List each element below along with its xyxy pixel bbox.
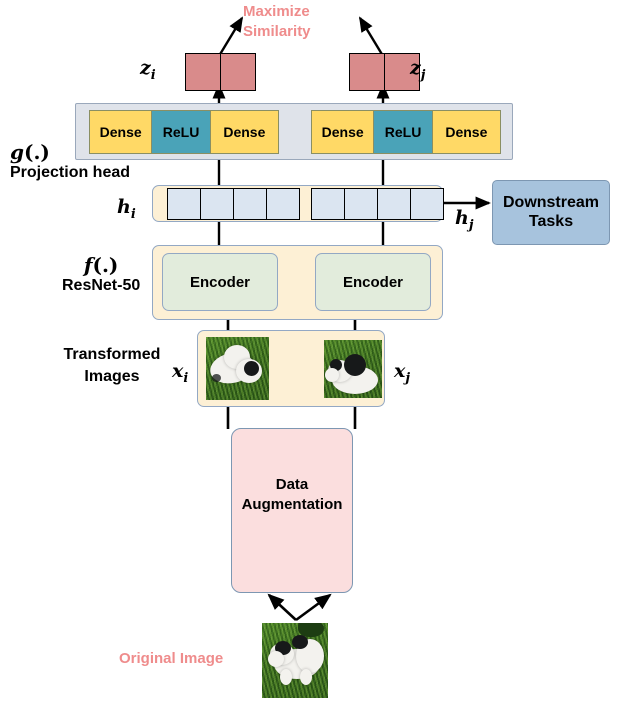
- hi-cell: [168, 189, 201, 219]
- zi-cell: [221, 54, 255, 90]
- encoder-right: Encoder: [315, 253, 431, 311]
- augmentation-line-2: Augmentation: [242, 495, 343, 515]
- dense-block: Dense: [211, 111, 278, 153]
- g-args: (.): [24, 140, 50, 164]
- zj-cell: [350, 54, 385, 90]
- arrow-original-to-augmentation-right: [296, 595, 330, 620]
- objective-line-2: Similarity: [243, 22, 311, 42]
- diagram-canvas: Maximize Similarity zi zj Dense ReLU Den…: [0, 0, 622, 701]
- augmentation-line-1: Data: [242, 475, 343, 495]
- zi-label: zi: [140, 57, 156, 83]
- arrow-original-to-augmentation-left: [269, 595, 296, 620]
- hi-cell: [267, 189, 299, 219]
- xj-label: xj: [394, 360, 410, 386]
- hj-cell: [411, 189, 443, 219]
- projection-head-caption: g(.) Projection head: [10, 142, 130, 182]
- hi-cell: [201, 189, 234, 219]
- encoder-function-symbol: f(.): [62, 255, 140, 276]
- objective-label: Maximize Similarity: [243, 2, 311, 43]
- encoder-left: Encoder: [162, 253, 278, 311]
- projection-head-right-mlp: Dense ReLU Dense: [311, 110, 501, 154]
- original-image: [262, 623, 328, 698]
- hj-symbol: h: [455, 207, 469, 229]
- hi-vector: [167, 188, 300, 220]
- zj-subscript: j: [421, 68, 426, 83]
- xi-symbol: x: [172, 360, 183, 382]
- hj-vector: [311, 188, 444, 220]
- dog-fur-shape: [300, 669, 312, 685]
- zj-label: zj: [410, 57, 425, 83]
- zi-vector: [185, 53, 256, 91]
- g-symbol: g: [10, 140, 24, 164]
- downstream-line-2: Tasks: [503, 213, 599, 231]
- xi-label: xi: [172, 360, 188, 386]
- xj-symbol: x: [394, 360, 405, 382]
- objective-line-1: Maximize: [243, 2, 311, 22]
- relu-block: ReLU: [374, 111, 432, 153]
- xi-subscript: i: [183, 371, 188, 386]
- original-image-label: Original Image: [119, 650, 223, 667]
- dog-dark-patch: [344, 354, 366, 376]
- transformed-image-left: [206, 337, 269, 400]
- dense-block: Dense: [433, 111, 500, 153]
- arrow-zi-to-objective: [219, 18, 242, 56]
- zj-symbol: z: [410, 57, 421, 79]
- projection-function-symbol: g(.): [10, 142, 130, 163]
- xj-subscript: j: [405, 371, 410, 386]
- data-augmentation-box[interactable]: Data Augmentation: [231, 428, 353, 593]
- downstream-line-1: Downstream: [503, 194, 599, 212]
- encoder-caption: f(.) ResNet-50: [62, 255, 140, 295]
- dog-fur-shape: [268, 651, 284, 667]
- hj-subscript: j: [469, 218, 474, 233]
- f-args: (.): [92, 253, 118, 277]
- zi-subscript: i: [151, 68, 156, 83]
- dog-dark-patch: [292, 635, 308, 649]
- hj-label: hj: [455, 207, 474, 233]
- zi-symbol: z: [140, 57, 151, 79]
- dense-block: Dense: [312, 111, 374, 153]
- dog-dark-patch: [212, 374, 221, 382]
- transformed-image-right: [324, 340, 382, 398]
- projection-head-name: Projection head: [10, 164, 130, 182]
- hj-cell: [312, 189, 345, 219]
- hj-cell: [378, 189, 411, 219]
- downstream-tasks-box[interactable]: Downstream Tasks: [492, 180, 610, 245]
- dog-dark-patch: [244, 361, 259, 376]
- relu-block: ReLU: [152, 111, 210, 153]
- encoder-backbone-name: ResNet-50: [62, 277, 140, 295]
- hi-label: hi: [117, 196, 136, 222]
- hi-cell: [234, 189, 267, 219]
- transformed-caption-line-1: Transformed: [52, 344, 172, 366]
- dog-fur-shape: [280, 669, 292, 685]
- hj-cell: [345, 189, 378, 219]
- transformed-images-caption: Transformed Images: [52, 344, 172, 387]
- hi-symbol: h: [117, 196, 131, 218]
- transformed-caption-line-2: Images: [52, 366, 172, 388]
- dog-fur-shape: [325, 368, 339, 382]
- hi-subscript: i: [131, 207, 136, 222]
- zi-cell: [186, 54, 221, 90]
- arrow-zj-to-objective: [360, 18, 383, 56]
